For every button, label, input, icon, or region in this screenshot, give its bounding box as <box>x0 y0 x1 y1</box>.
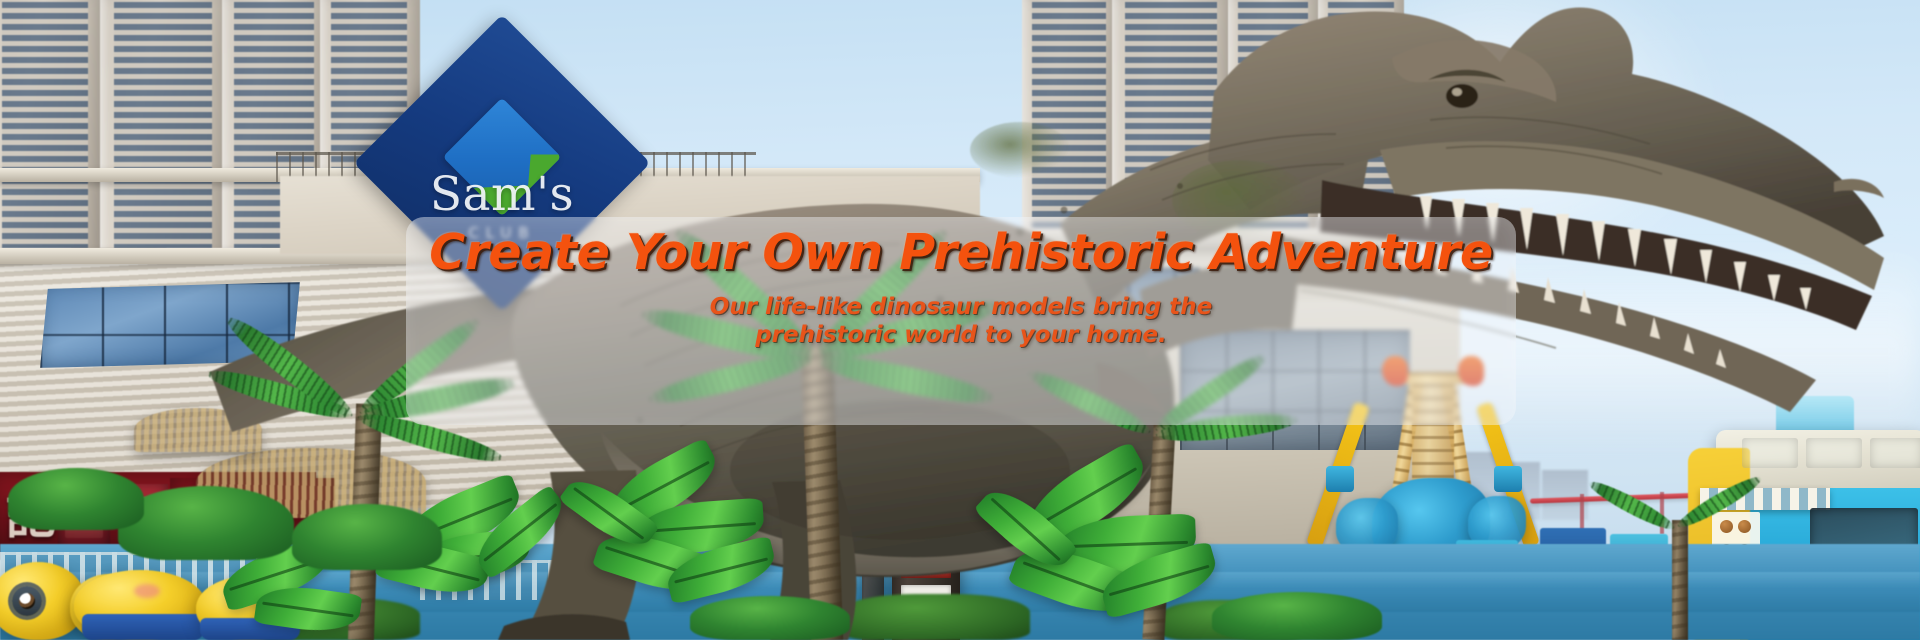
foliage-bush <box>292 504 442 570</box>
palm-tree-trunk <box>1672 520 1688 640</box>
hero-subtitle-line-2: prehistoric world to your home. <box>710 321 1212 349</box>
hero-subtitle: Our life-like dinosaur models bring the … <box>710 293 1212 349</box>
dino-eye <box>1446 84 1478 108</box>
logo-brand-text: Sam's <box>397 167 607 222</box>
hero-banner: 記 炎 <box>0 0 1920 640</box>
hero-text-container: Create Your Own Prehistoric Adventure Ou… <box>406 217 1516 425</box>
dino-moss-patch <box>970 122 1070 178</box>
hero-subtitle-line-1: Our life-like dinosaur models bring the <box>710 293 1212 321</box>
dino-foot <box>498 614 630 640</box>
hero-headline: Create Your Own Prehistoric Adventure <box>429 225 1493 281</box>
dino-eye-highlight <box>1452 88 1462 96</box>
foliage-bush <box>690 596 850 640</box>
foliage-bush <box>118 486 294 560</box>
foliage-bush <box>8 468 144 530</box>
foliage-bush <box>1212 592 1382 640</box>
